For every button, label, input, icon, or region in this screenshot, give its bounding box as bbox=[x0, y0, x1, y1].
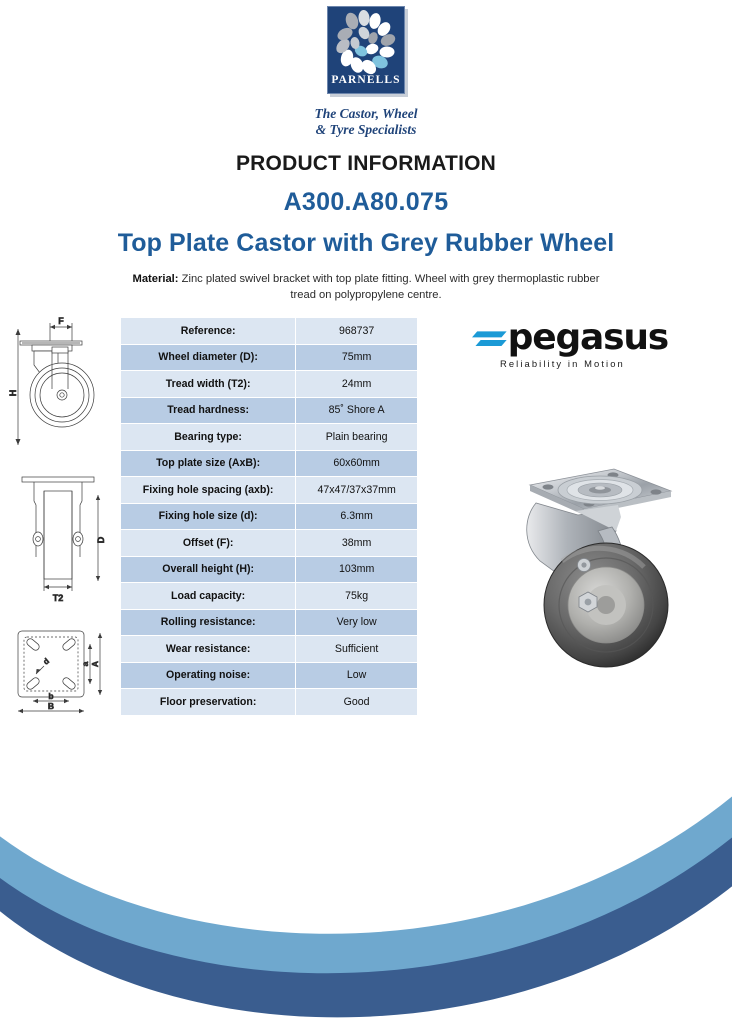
title-block: PRODUCT INFORMATION A300.A80.075 Top Pla… bbox=[0, 152, 732, 303]
material-description: Material: Zinc plated swivel bracket wit… bbox=[131, 271, 601, 303]
pegasus-logo-main: pegasus bbox=[472, 321, 668, 355]
svg-text:A: A bbox=[90, 661, 100, 667]
spec-key: Fixing hole spacing (axb): bbox=[121, 477, 296, 504]
material-text: Zinc plated swivel bracket with top plat… bbox=[182, 273, 600, 301]
spec-key: Load capacity: bbox=[121, 583, 296, 610]
product-name: Top Plate Castor with Grey Rubber Wheel bbox=[0, 229, 732, 258]
svg-text:T2: T2 bbox=[53, 593, 64, 603]
svg-text:b: b bbox=[48, 691, 53, 701]
table-row: Load capacity:75kg bbox=[121, 583, 418, 610]
table-row: Tread hardness:85˚ Shore A bbox=[121, 397, 418, 424]
tagline-line-2: & Tyre Specialists bbox=[0, 122, 732, 138]
table-row: Floor preservation:Good bbox=[121, 689, 418, 716]
svg-text:B: B bbox=[48, 701, 54, 711]
spec-value: 38mm bbox=[296, 530, 418, 557]
spec-value: Good bbox=[296, 689, 418, 716]
tagline-line-1: The Castor, Wheel bbox=[0, 106, 732, 122]
parnells-logo: PARNELLS bbox=[327, 6, 405, 94]
spec-key: Reference: bbox=[121, 318, 296, 345]
spec-key: Operating noise: bbox=[121, 662, 296, 689]
svg-text:H: H bbox=[8, 390, 18, 397]
spec-value: 968737 bbox=[296, 318, 418, 345]
table-row: Tread width (T2):24mm bbox=[121, 371, 418, 398]
spec-key: Bearing type: bbox=[121, 424, 296, 451]
table-row: Overall height (H):103mm bbox=[121, 556, 418, 583]
product-photo-castor bbox=[466, 457, 681, 687]
footer-decorative-arcs bbox=[0, 724, 732, 1024]
table-row: Wear resistance:Sufficient bbox=[121, 636, 418, 663]
page-title: PRODUCT INFORMATION bbox=[0, 152, 732, 176]
table-row: Rolling resistance:Very low bbox=[121, 609, 418, 636]
footer-arc-light bbox=[0, 742, 732, 973]
table-row: Fixing hole spacing (axb):47x47/37x37mm bbox=[121, 477, 418, 504]
castor-top-plate-drawing: d b B a A bbox=[0, 617, 116, 737]
table-row: Offset (F):38mm bbox=[121, 530, 418, 557]
spec-key: Top plate size (AxB): bbox=[121, 450, 296, 477]
spec-key: Offset (F): bbox=[121, 530, 296, 557]
spec-value: 85˚ Shore A bbox=[296, 397, 418, 424]
table-row: Reference:968737 bbox=[121, 318, 418, 345]
table-row: Bearing type:Plain bearing bbox=[121, 424, 418, 451]
product-code: A300.A80.075 bbox=[0, 188, 732, 217]
specification-table: Reference:968737 Wheel diameter (D):75mm… bbox=[120, 317, 418, 716]
footer-arc-dark bbox=[0, 764, 732, 1017]
svg-text:D: D bbox=[96, 536, 106, 543]
castor-front-view-drawing: T2 D bbox=[0, 461, 116, 611]
spec-value: Very low bbox=[296, 609, 418, 636]
castor-side-view-drawing: H F bbox=[0, 317, 116, 457]
spec-value: 24mm bbox=[296, 371, 418, 398]
spec-value: 47x47/37x37mm bbox=[296, 477, 418, 504]
spec-key: Fixing hole size (d): bbox=[121, 503, 296, 530]
table-row: Fixing hole size (d):6.3mm bbox=[121, 503, 418, 530]
spec-key: Overall height (H): bbox=[121, 556, 296, 583]
pegasus-tagline: Reliability in Motion bbox=[500, 358, 668, 369]
parnells-wordmark: PARNELLS bbox=[328, 74, 404, 86]
spec-value: 60x60mm bbox=[296, 450, 418, 477]
pegasus-wordmark: pegasus bbox=[508, 321, 668, 355]
specification-table-body: Reference:968737 Wheel diameter (D):75mm… bbox=[121, 318, 418, 716]
parnells-logo-box: PARNELLS bbox=[327, 6, 405, 94]
spec-value: Sufficient bbox=[296, 636, 418, 663]
table-row: Wheel diameter (D):75mm bbox=[121, 344, 418, 371]
spec-key: Tread hardness: bbox=[121, 397, 296, 424]
pegasus-speed-lines-icon bbox=[472, 327, 507, 350]
spec-value: 75mm bbox=[296, 344, 418, 371]
parnells-tagline: The Castor, Wheel & Tyre Specialists bbox=[0, 106, 732, 138]
material-label: Material: bbox=[133, 273, 179, 285]
spec-value: Low bbox=[296, 662, 418, 689]
spec-key: Wear resistance: bbox=[121, 636, 296, 663]
svg-text:F: F bbox=[58, 317, 64, 326]
spec-value: 6.3mm bbox=[296, 503, 418, 530]
svg-text:a: a bbox=[80, 661, 90, 666]
spec-value: 75kg bbox=[296, 583, 418, 610]
spec-value: 103mm bbox=[296, 556, 418, 583]
spec-key: Wheel diameter (D): bbox=[121, 344, 296, 371]
pegasus-logo: pegasus Reliability in Motion bbox=[472, 321, 668, 369]
page-header: PARNELLS The Castor, Wheel & Tyre Specia… bbox=[0, 0, 732, 138]
technical-drawings: H F bbox=[0, 317, 116, 737]
spec-value: Plain bearing bbox=[296, 424, 418, 451]
main-content: H F bbox=[0, 317, 732, 737]
spec-key: Floor preservation: bbox=[121, 689, 296, 716]
table-row: Top plate size (AxB):60x60mm bbox=[121, 450, 418, 477]
spec-key: Tread width (T2): bbox=[121, 371, 296, 398]
spec-key: Rolling resistance: bbox=[121, 609, 296, 636]
table-row: Operating noise:Low bbox=[121, 662, 418, 689]
